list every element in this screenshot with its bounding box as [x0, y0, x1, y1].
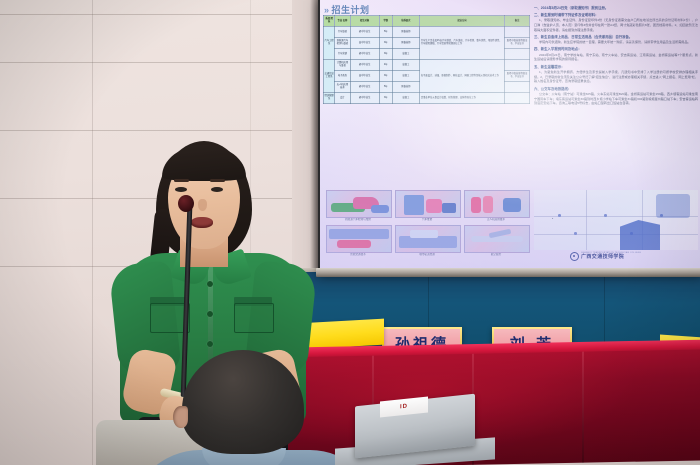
section-body: 1、为避免新生开学拥挤，方便学生及家长提前入学手续，凡通知书中安排了入学注册的可… — [534, 70, 698, 84]
cell-major: 汽车营销 — [335, 49, 350, 60]
screen-bottom-bar — [316, 268, 700, 277]
presentation-scene: »招生计划 系部 院系 专业 名称 招生对象 学制 培养层次 就业方向 备注 — [0, 0, 700, 465]
table-row: 交通信息工程系 计算机应用与维修 初中毕业生 4年 高级工 在平面设计、动漫、影… — [324, 60, 530, 71]
photo-thumb — [464, 225, 530, 253]
cell-years: 3年 — [379, 38, 392, 49]
cell-level: 预备技师 — [392, 38, 419, 49]
thumb-caption: 航空服务 — [464, 254, 528, 257]
thumbnail-cell: 航空服务 — [464, 225, 528, 257]
cell-major: 新能源汽车检测与维修 — [335, 38, 350, 49]
cell-note: 取得中级技能等级证书、毕业证书 — [505, 38, 530, 49]
cell-object: 初中毕业生 — [350, 93, 379, 104]
slide-text-column: 一、2024年8月24日党（录取通知书）报到注册。 二、新生报到时请带下列证件及… — [534, 4, 698, 107]
th-note: 备注 — [505, 16, 530, 27]
cell-level: 高级工 — [392, 60, 419, 71]
logo-chinese: 广西交通技师学院 — [581, 255, 641, 260]
cell-note — [505, 93, 530, 104]
cell-major: 计算机应用与维修 — [335, 60, 350, 71]
table-row: 经济管理系 会计 初中毕业生 3年 高级工 企事业单位从事会计核算、财务管理、出… — [324, 93, 530, 104]
emblem-icon — [570, 252, 579, 261]
section-body: 公交车：火车站（南宁站）可乘坐605路、火车东站可乘坐B20路，金桥客运站可乘坐… — [534, 92, 698, 106]
thumb-caption: 无人机应用技术 — [464, 219, 528, 222]
cell-years: 5年 — [379, 82, 392, 93]
cell-career: 企事业单位从事会计核算、财务管理、出纳等岗位工作 — [419, 93, 504, 104]
section-body: 2024年8月24日，南宁学校车站、南宁东站、南宁火车站、安吉客运站、江南客运站… — [534, 53, 698, 63]
cell-years: 4年 — [379, 60, 392, 71]
table-header-row: 系部 院系 专业 名称 招生对象 学制 培养层次 就业方向 备注 — [324, 16, 530, 27]
route-map: ● — [534, 190, 698, 250]
cell-years: 3年 — [379, 71, 392, 82]
projection-screen: »招生计划 系部 院系 专业 名称 招生对象 学制 培养层次 就业方向 备注 — [320, 0, 700, 272]
audience-ear — [173, 406, 188, 428]
cell-level: 预备技师 — [392, 82, 419, 93]
photo-thumb — [464, 190, 530, 218]
thumbnail-cell: 智能交通技术 — [326, 225, 390, 257]
cell-object: 高中毕业生 — [350, 38, 379, 49]
cell-object: 初中毕业生 — [350, 27, 379, 38]
photo-thumb — [395, 225, 461, 253]
cell-major: 无人机应用技术 — [335, 82, 350, 93]
cell-dept: 交通信息工程系 — [324, 60, 335, 93]
speaker-hair-front — [162, 145, 246, 181]
cell-major: 汽车维修 — [335, 27, 350, 38]
chevron-icon: » — [324, 5, 330, 15]
photo-thumb — [326, 190, 392, 218]
cell-years: 3年 — [379, 93, 392, 104]
cell-dept: 汽车工程系 — [324, 27, 335, 60]
thumbnail-cell: 汽车维修 — [395, 190, 459, 222]
cell-dept: 经济管理系 — [324, 93, 335, 104]
audience-head — [182, 350, 304, 454]
table-row: 汽车工程系 汽车维修 初中毕业生 5年 预备技师 汽车生产企业及4S店汽车制造、… — [324, 27, 530, 38]
cell-note — [505, 49, 530, 60]
cell-note: 取得中级技能等级证书、毕业证书 — [505, 71, 530, 82]
speaker-mouth — [191, 217, 213, 228]
photo-thumb — [326, 225, 392, 253]
section-heading: 六、公交车及地铁路线： — [534, 87, 698, 91]
section-heading: 三、新生自备床上用品、日常生活用品（含洗漱用品）自行准备。 — [534, 35, 698, 39]
th-career: 就业方向 — [419, 16, 504, 27]
cell-years: 3年 — [379, 49, 392, 60]
photo-thumb — [395, 190, 461, 218]
thumbnail-cell: 无人机应用技术 — [464, 190, 528, 222]
slide-title-text: 招生计划 — [332, 5, 370, 15]
section-heading: 四、新生入学报到时间及地点： — [534, 47, 698, 51]
th-major: 专业 名称 — [335, 16, 350, 27]
speaker-nose — [198, 199, 207, 211]
cell-level: 高级工 — [392, 71, 419, 82]
section-body: 学院内可供选购，新生应学院的统一自理，需要大年统一购买，请妥善保管，请携带学生用… — [534, 40, 698, 45]
th-level: 培养层次 — [392, 16, 419, 27]
section-heading: 一、2024年8月24日党（录取通知书）报到注册。 — [534, 6, 698, 10]
cell-object: 初中毕业生 — [350, 49, 379, 60]
section-heading: 五、新生温馨提示： — [534, 65, 698, 69]
thumb-caption: 智能交通技术 — [326, 254, 390, 257]
cell-note — [505, 27, 530, 38]
th-object: 招生对象 — [350, 16, 379, 27]
enrollment-table: 系部 院系 专业 名称 招生对象 学制 培养层次 就业方向 备注 汽车工程系 汽… — [323, 15, 530, 104]
thumbnail-cell: 新能源汽车检测与维修 — [326, 190, 390, 222]
thumbnail-row: 新能源汽车检测与维修 汽车维修 — [326, 190, 528, 222]
thumbnail-grid: 新能源汽车检测与维修 汽车维修 — [326, 190, 528, 259]
cell-major: 会计 — [335, 93, 350, 104]
cell-years: 5年 — [379, 27, 392, 38]
cell-note — [505, 60, 530, 71]
section-heading: 二、新生报到时请带下列证件及证明材料： — [534, 13, 698, 17]
logo-text: GUANGXI TRANSPORTATION TECHNICIAN COLLEG… — [581, 253, 641, 260]
cell-major: 电子商务 — [335, 71, 350, 82]
cell-object: 高中毕业生 — [350, 71, 379, 82]
college-logo: GUANGXI TRANSPORTATION TECHNICIAN COLLEG… — [570, 252, 641, 261]
thumbnail-row: 智能交通技术 城市轨道交通 航空服务 — [326, 225, 528, 257]
cell-object: 初中毕业生 — [350, 60, 379, 71]
cell-object: 初中毕业生 — [350, 82, 379, 93]
thumb-caption: 新能源汽车检测与维修 — [326, 219, 390, 222]
cell-level: 高级工 — [392, 93, 419, 104]
microphone-head-icon — [178, 195, 194, 212]
cell-career: 汽车生产企业及4S店汽车制造、汽车维修、汽车检测、整车销售、零部件销售、汽车保险… — [419, 27, 504, 60]
cell-note — [505, 82, 530, 93]
th-dept: 系部 院系 — [324, 16, 335, 27]
thumb-caption: 汽车维修 — [395, 219, 459, 222]
th-years: 学制 — [379, 16, 392, 27]
cell-level: 高级工 — [392, 49, 419, 60]
table-body: 汽车工程系 汽车维修 初中毕业生 5年 预备技师 汽车生产企业及4S店汽车制造、… — [324, 27, 530, 104]
thumbnail-cell: 城市轨道交通 — [395, 225, 459, 257]
cell-career: 在平面设计、动漫、影视制作、网站设计、网络工程等领域从事相关技术工作 — [419, 60, 504, 93]
section-body: 1、录取通知书、毕业证件、身份证复印件4份（无身份证者需交由户口所在地派出所出具… — [534, 18, 698, 32]
cell-level: 预备技师 — [392, 27, 419, 38]
thumb-caption: 城市轨道交通 — [395, 254, 459, 257]
slide-content: »招生计划 系部 院系 专业 名称 招生对象 学制 培养层次 就业方向 备注 — [320, 0, 700, 272]
